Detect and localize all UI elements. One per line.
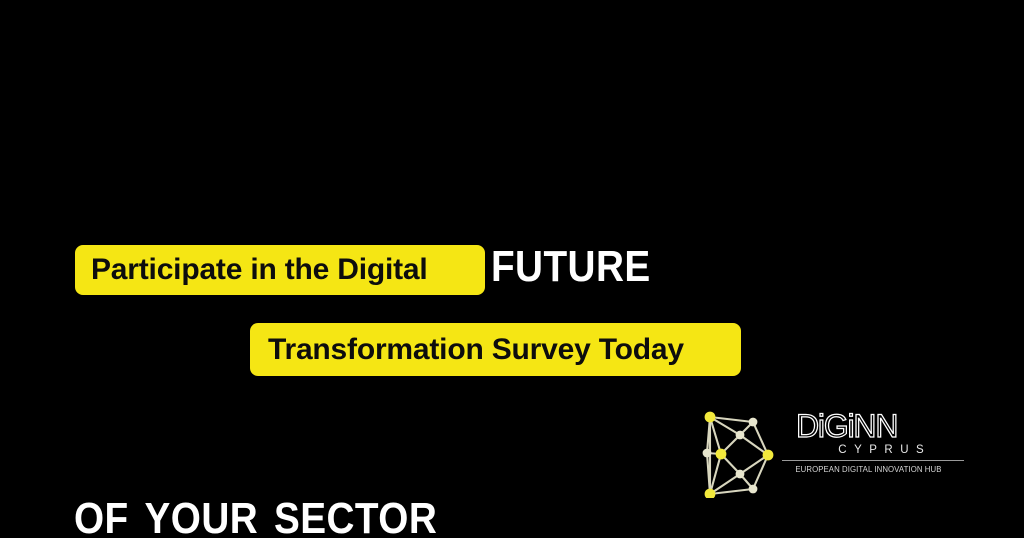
logo-region-text: CYPRUS bbox=[796, 444, 966, 457]
highlight-bar-one-text: Participate in the Digital bbox=[91, 253, 428, 287]
promo-banner: Shape the Digital Future of Your Sector … bbox=[0, 0, 1024, 538]
logo-divider bbox=[782, 460, 964, 461]
diginn-logo-lockup: DiGiNN DiGiNN CYPRUS EUROPEAN DIGITAL IN… bbox=[694, 398, 966, 498]
logo-tagline: EUROPEAN DIGITAL INNOVATION HUB bbox=[782, 464, 955, 476]
diginn-wordmark-icon: DiGiNN bbox=[796, 408, 964, 446]
svg-text:DiGiNN: DiGiNN bbox=[796, 408, 897, 444]
highlight-bar-two-text: Transformation Survey Today bbox=[268, 333, 684, 367]
highlight-bar-transformation: Transformation Survey Today bbox=[250, 323, 741, 376]
logo-text-block: DiGiNN DiGiNN CYPRUS EUROPEAN DIGITAL IN… bbox=[782, 398, 966, 494]
headline-line-2: of Your Sector bbox=[74, 470, 796, 538]
highlight-bar-participate: Participate in the Digital bbox=[75, 245, 485, 295]
network-node-graph-icon bbox=[694, 404, 784, 498]
